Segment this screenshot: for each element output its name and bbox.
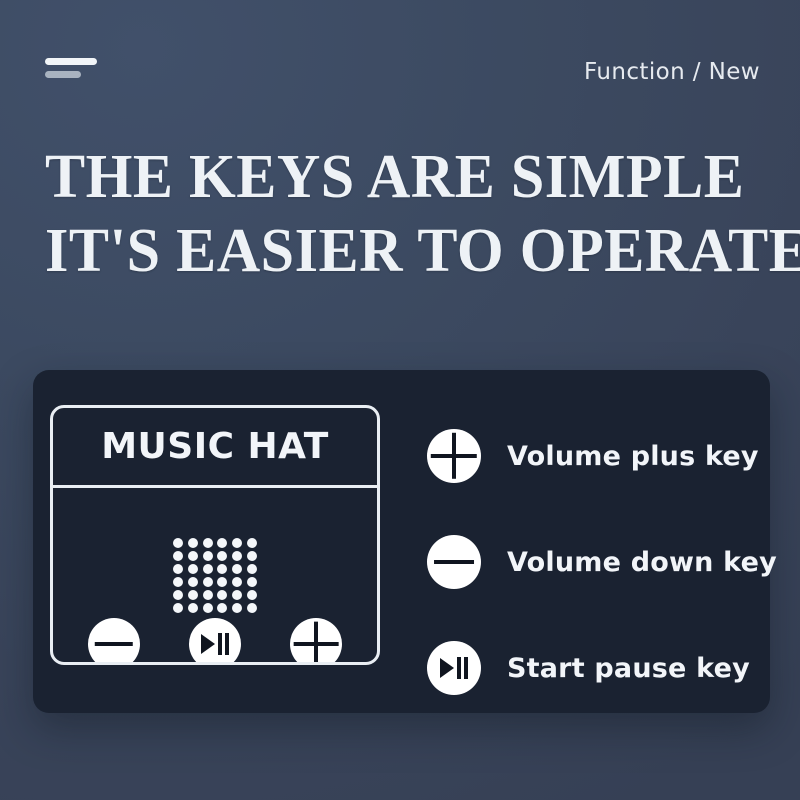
legend-item-start-pause[interactable]: Start pause key: [427, 615, 757, 721]
play-pause-icon: [201, 633, 229, 655]
headline-line-1: THE KEYS ARE SIMPLE: [45, 140, 724, 214]
device-illustration: MUSIC HAT: [50, 405, 380, 665]
matrix-dot: [217, 590, 227, 600]
matrix-dot: [203, 603, 213, 613]
matrix-dot: [203, 551, 213, 561]
matrix-dot: [232, 538, 242, 548]
device-brand-label: MUSIC HAT: [101, 426, 329, 467]
legend-item-volume-plus[interactable]: Volume plus key: [427, 403, 757, 509]
hamburger-bar-top: [45, 58, 97, 65]
matrix-dot: [232, 551, 242, 561]
matrix-dot: [217, 603, 227, 613]
play-pause-glyph: [440, 657, 468, 679]
pause-bar-right-icon: [464, 657, 468, 679]
matrix-dot: [188, 603, 198, 613]
minus-icon-bar: [434, 560, 474, 564]
matrix-dot: [217, 577, 227, 587]
legend-label-start-pause: Start pause key: [507, 653, 750, 684]
matrix-dot: [173, 538, 183, 548]
matrix-dot: [188, 577, 198, 587]
matrix-dot: [247, 577, 257, 587]
top-bar: Function / New: [0, 0, 800, 110]
dot-matrix-display: [172, 538, 258, 604]
legend-label-volume-down: Volume down key: [507, 547, 777, 578]
matrix-dot: [217, 551, 227, 561]
matrix-dot: [203, 590, 213, 600]
device-volume-down-button[interactable]: [88, 618, 140, 665]
pause-bar-left-icon: [218, 633, 222, 655]
play-triangle-icon: [440, 658, 454, 678]
product-feature-slide: Function / New THE KEYS ARE SIMPLE IT'S …: [0, 0, 800, 800]
matrix-dot: [203, 564, 213, 574]
key-legend-list: Volume plus key Volume down key Start pa…: [427, 403, 757, 721]
matrix-dot: [247, 564, 257, 574]
matrix-dot: [173, 564, 183, 574]
headline-line-2: IT'S EASIER TO OPERATE: [45, 214, 724, 288]
matrix-dot: [173, 590, 183, 600]
matrix-dot: [232, 577, 242, 587]
matrix-dot: [232, 603, 242, 613]
device-button-row: [88, 617, 342, 665]
matrix-dot: [173, 603, 183, 613]
plus-icon[interactable]: [427, 429, 481, 483]
pause-bar-right-icon: [225, 633, 229, 655]
device-start-pause-button[interactable]: [189, 618, 241, 665]
matrix-dot: [217, 538, 227, 548]
matrix-dot: [173, 577, 183, 587]
breadcrumb[interactable]: Function / New: [584, 59, 760, 85]
matrix-dot: [188, 551, 198, 561]
plus-icon-vertical: [452, 433, 456, 479]
matrix-dot: [217, 564, 227, 574]
minus-icon: [95, 642, 133, 646]
plus-icon-vertical: [314, 622, 318, 665]
matrix-dot: [247, 590, 257, 600]
minus-icon[interactable]: [427, 535, 481, 589]
matrix-dot: [232, 564, 242, 574]
matrix-dot: [247, 538, 257, 548]
matrix-dot: [232, 590, 242, 600]
hamburger-menu-icon[interactable]: [45, 55, 99, 79]
hamburger-bar-bottom: [45, 71, 81, 78]
page-title: THE KEYS ARE SIMPLE IT'S EASIER TO OPERA…: [45, 140, 745, 288]
legend-item-volume-down[interactable]: Volume down key: [427, 509, 757, 615]
matrix-dot: [203, 577, 213, 587]
play-pause-icon[interactable]: [427, 641, 481, 695]
matrix-dot: [203, 538, 213, 548]
matrix-dot: [247, 603, 257, 613]
feature-card: MUSIC HAT: [33, 370, 770, 713]
device-volume-plus-button[interactable]: [290, 618, 342, 665]
play-triangle-icon: [201, 634, 215, 654]
legend-label-volume-plus: Volume plus key: [507, 441, 759, 472]
pause-bar-left-icon: [457, 657, 461, 679]
matrix-dot: [188, 564, 198, 574]
matrix-dot: [188, 538, 198, 548]
matrix-dot: [188, 590, 198, 600]
matrix-dot: [247, 551, 257, 561]
device-brand-plate: MUSIC HAT: [53, 408, 377, 488]
matrix-dot: [173, 551, 183, 561]
